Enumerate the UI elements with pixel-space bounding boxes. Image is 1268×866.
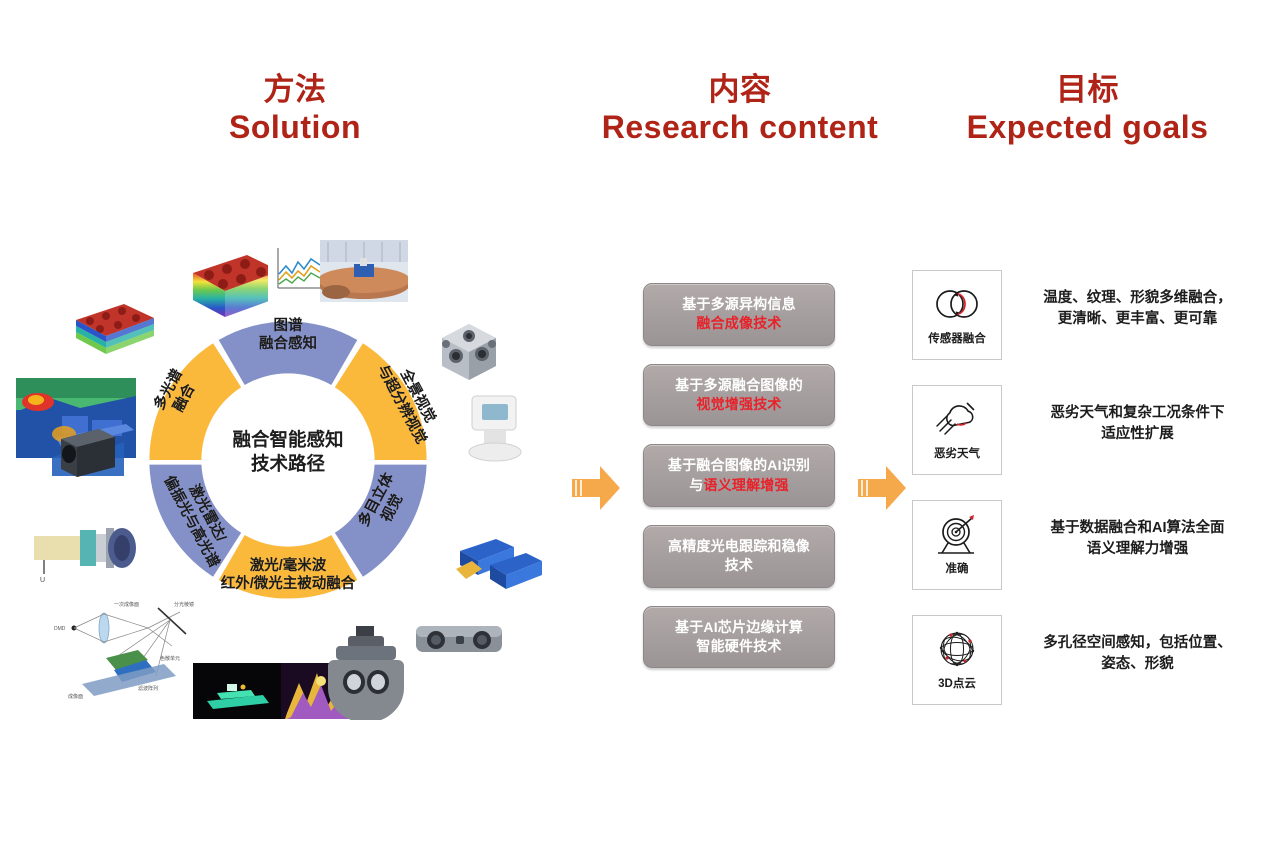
column-headers: 方法 Solution 内容 Research content 目标 Expec… xyxy=(0,0,1268,180)
ring-label-top-line2: 融合感知 xyxy=(223,336,353,354)
lidar-pointcloud-ship-photo xyxy=(193,663,281,719)
header-solution: 方法 Solution xyxy=(140,72,450,146)
header-solution-cn: 方法 xyxy=(140,72,450,109)
goal-text-point-cloud: 多孔径空间感知，包括位置、 姿态、形貌 xyxy=(1002,615,1257,674)
goal-2-line2: 语义理解力增强 xyxy=(1020,539,1255,560)
goal-row-point-cloud: 3D点云 多孔径空间感知，包括位置、 姿态、形貌 xyxy=(912,615,1257,715)
goal-icon-label-accuracy: 准确 xyxy=(946,563,969,576)
content-box-2-prefix: 与 xyxy=(689,477,703,493)
content-box-4-line2: 智能硬件技术 xyxy=(652,637,826,656)
donut-center-line1: 融合智能感知 xyxy=(190,428,386,452)
content-box-4-line1: 基于AI芯片边缘计算 xyxy=(652,618,826,637)
gimbal-eo-turret-photo xyxy=(322,620,410,720)
research-content-list: 基于多源异构信息 融合成像技术 基于多源融合图像的 视觉增强技术 基于融合图像的… xyxy=(643,283,835,686)
goal-0-line2: 更清晰、更丰富、更可靠 xyxy=(1020,309,1255,330)
content-box-3-line2: 技术 xyxy=(652,556,826,575)
content-box-0-line1: 基于多源异构信息 xyxy=(652,295,826,314)
goal-text-bad-weather: 恶劣天气和复杂工况条件下 适应性扩展 xyxy=(1002,385,1257,444)
donut-center-title: 融合智能感知 技术路径 xyxy=(190,428,386,476)
scanner-instrument-photo xyxy=(458,388,528,468)
point-cloud-sphere-icon xyxy=(931,624,983,674)
goal-icon-box-accuracy[interactable]: 准确 xyxy=(912,500,1002,590)
rain-cloud-icon xyxy=(931,394,983,444)
svg-text:色散单元: 色散单元 xyxy=(160,655,180,662)
header-research-en: Research content xyxy=(575,109,905,147)
optical-bench-photo: U xyxy=(30,512,140,584)
donut-center-line2: 技术路径 xyxy=(190,452,386,476)
venn-circles-icon xyxy=(931,279,983,329)
goal-0-line1: 温度、纹理、形貌多维融合， xyxy=(1020,288,1255,309)
content-box-ai-chip-edge-computing[interactable]: 基于AI芯片边缘计算 智能硬件技术 xyxy=(643,606,835,669)
expected-goals-list: 传感器融合 温度、纹理、形貌多维融合， 更清晰、更丰富、更可靠 恶劣天气 恶劣天… xyxy=(912,270,1257,730)
header-research-cn: 内容 xyxy=(575,72,905,109)
goal-3-line2: 姿态、形貌 xyxy=(1020,654,1255,675)
technology-roadmap-donut: 图谱 融合感知 全景视觉 与超分辨视觉 多目立体 视觉 激光/毫米波 红外/微光… xyxy=(128,300,448,620)
content-box-0-accent: 融合成像技术 xyxy=(652,314,826,333)
content-box-2-line2: 与语义理解增强 xyxy=(652,476,826,495)
goal-text-accuracy: 基于数据融合和AI算法全面 语义理解力增强 xyxy=(1002,500,1257,559)
header-expected-goals: 目标 Expected goals xyxy=(910,72,1265,146)
arrow-content-to-goals-icon xyxy=(852,460,910,516)
goal-1-line1: 恶劣天气和复杂工况条件下 xyxy=(1020,403,1255,424)
goal-3-line1: 多孔径空间感知，包括位置、 xyxy=(1020,633,1255,654)
goal-row-accuracy: 准确 基于数据融合和AI算法全面 语义理解力增强 xyxy=(912,500,1257,600)
goal-row-bad-weather: 恶劣天气 恶劣天气和复杂工况条件下 适应性扩展 xyxy=(912,385,1257,485)
stacked-blue-bricks-photo xyxy=(456,525,546,603)
goal-text-sensor-fusion: 温度、纹理、形貌多维融合， 更清晰、更丰富、更可靠 xyxy=(1002,270,1257,329)
svg-text:DMD: DMD xyxy=(54,626,66,632)
goal-1-line2: 适应性扩展 xyxy=(1020,424,1255,445)
goal-icon-label-bad-weather: 恶劣天气 xyxy=(934,448,980,461)
svg-text:U: U xyxy=(40,577,45,584)
header-research-content: 内容 Research content xyxy=(575,72,905,146)
content-box-fusion-imaging[interactable]: 基于多源异构信息 融合成像技术 xyxy=(643,283,835,346)
content-box-1-accent: 视觉增强技术 xyxy=(652,395,826,414)
ring-label-spectral-fusion-sensing: 图谱 融合感知 xyxy=(223,318,353,353)
svg-text:成像面: 成像面 xyxy=(68,693,83,700)
content-box-3-line1: 高精度光电跟踪和稳像 xyxy=(652,537,826,556)
goal-icon-box-sensor-fusion[interactable]: 传感器融合 xyxy=(912,270,1002,360)
content-box-ai-semantic-understanding[interactable]: 基于融合图像的AI识别 与语义理解增强 xyxy=(643,444,835,507)
content-box-visual-enhancement[interactable]: 基于多源融合图像的 视觉增强技术 xyxy=(643,364,835,427)
header-goals-en: Expected goals xyxy=(910,109,1265,147)
black-camera-photo xyxy=(55,423,121,481)
goal-2-line1: 基于数据融合和AI算法全面 xyxy=(1020,518,1255,539)
header-solution-en: Solution xyxy=(140,109,450,147)
content-box-2-line1: 基于融合图像的AI识别 xyxy=(652,456,826,475)
svg-text:滤波阵列: 滤波阵列 xyxy=(138,685,158,692)
ring-label-top-line1: 图谱 xyxy=(223,318,353,336)
content-box-2-accent: 语义理解增强 xyxy=(704,477,789,493)
goal-icon-label-point-cloud: 3D点云 xyxy=(938,678,976,691)
goal-icon-box-point-cloud[interactable]: 3D点云 xyxy=(912,615,1002,705)
header-goals-cn: 目标 xyxy=(910,72,1265,109)
target-dart-icon xyxy=(931,509,983,559)
spectrum-plot-photo xyxy=(268,240,328,302)
goal-icon-box-bad-weather[interactable]: 恶劣天气 xyxy=(912,385,1002,475)
goal-icon-label-sensor-fusion: 传感器融合 xyxy=(928,333,986,346)
pipeline-inspection-photo xyxy=(320,240,408,302)
content-box-optoelectronic-tracking[interactable]: 高精度光电跟踪和稳像 技术 xyxy=(643,525,835,588)
arrow-solution-to-content-icon xyxy=(566,460,624,516)
goal-row-sensor-fusion: 传感器融合 温度、纹理、形貌多维融合， 更清晰、更丰富、更可靠 xyxy=(912,270,1257,370)
content-box-1-line1: 基于多源融合图像的 xyxy=(652,376,826,395)
